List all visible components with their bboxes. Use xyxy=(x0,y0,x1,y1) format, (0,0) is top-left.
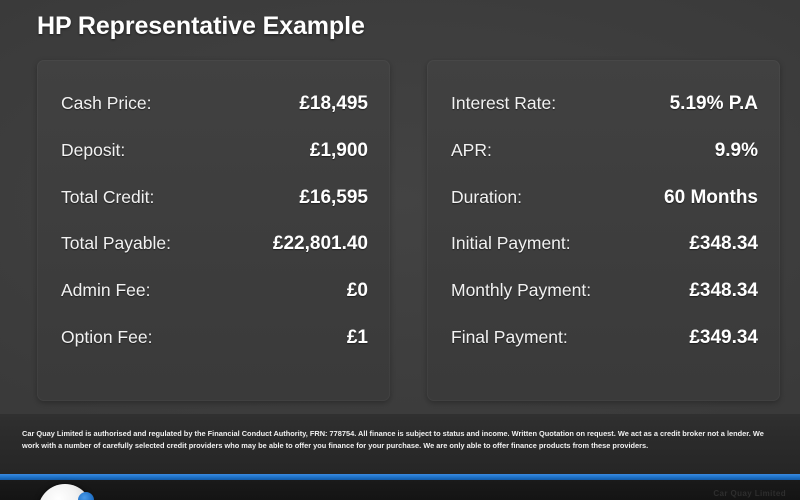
detail-row-value: £1,900 xyxy=(310,140,368,162)
detail-row-label: Admin Fee: xyxy=(61,280,150,301)
detail-row: Final Payment:£349.34 xyxy=(451,327,758,374)
page-title: HP Representative Example xyxy=(37,12,365,41)
detail-row-label: Final Payment: xyxy=(451,327,568,348)
detail-row-value: £16,595 xyxy=(299,187,368,209)
detail-row-value: 5.19% P.A xyxy=(670,93,758,115)
detail-row-label: Deposit: xyxy=(61,140,125,161)
footer-brand-label: Car Quay Limited xyxy=(713,489,786,498)
detail-row-label: Total Credit: xyxy=(61,187,154,208)
detail-row: Duration:60 Months xyxy=(451,187,758,234)
detail-row-value: £348.34 xyxy=(689,233,758,255)
disclaimer-text: Car Quay Limited is authorised and regul… xyxy=(22,428,780,451)
detail-row-label: APR: xyxy=(451,140,492,161)
detail-row-value: 60 Months xyxy=(664,187,758,209)
finance-summary-rows: Cash Price:£18,495Deposit:£1,900Total Cr… xyxy=(61,93,368,374)
detail-row: APR:9.9% xyxy=(451,140,758,187)
detail-row-value: £348.34 xyxy=(689,280,758,302)
detail-row-label: Option Fee: xyxy=(61,327,152,348)
detail-row-value: £18,495 xyxy=(299,93,368,115)
detail-row: Total Payable:£22,801.40 xyxy=(61,233,368,280)
page-stage: HP Representative Example Cash Price:£18… xyxy=(0,0,800,500)
detail-row-label: Duration: xyxy=(451,187,522,208)
detail-row-label: Interest Rate: xyxy=(451,93,556,114)
finance-terms-rows: Interest Rate:5.19% P.AAPR:9.9%Duration:… xyxy=(451,93,758,374)
detail-row: Monthly Payment:£348.34 xyxy=(451,280,758,327)
detail-row-label: Monthly Payment: xyxy=(451,280,591,301)
detail-row-value: £22,801.40 xyxy=(273,233,368,255)
footer-bar xyxy=(0,480,800,500)
detail-row-value: 9.9% xyxy=(715,140,758,162)
detail-row: Admin Fee:£0 xyxy=(61,280,368,327)
finance-summary-panel: Cash Price:£18,495Deposit:£1,900Total Cr… xyxy=(37,60,390,401)
finance-terms-panel: Interest Rate:5.19% P.AAPR:9.9%Duration:… xyxy=(427,60,780,401)
detail-row: Total Credit:£16,595 xyxy=(61,187,368,234)
detail-row-label: Initial Payment: xyxy=(451,233,571,254)
detail-row: Deposit:£1,900 xyxy=(61,140,368,187)
detail-row-label: Total Payable: xyxy=(61,233,171,254)
detail-row: Initial Payment:£348.34 xyxy=(451,233,758,280)
detail-row-value: £0 xyxy=(347,280,368,302)
detail-row-value: £349.34 xyxy=(689,327,758,349)
detail-row: Interest Rate:5.19% P.A xyxy=(451,93,758,140)
detail-row: Option Fee:£1 xyxy=(61,327,368,374)
detail-row-value: £1 xyxy=(347,327,368,349)
detail-row-label: Cash Price: xyxy=(61,93,151,114)
detail-row: Cash Price:£18,495 xyxy=(61,93,368,140)
